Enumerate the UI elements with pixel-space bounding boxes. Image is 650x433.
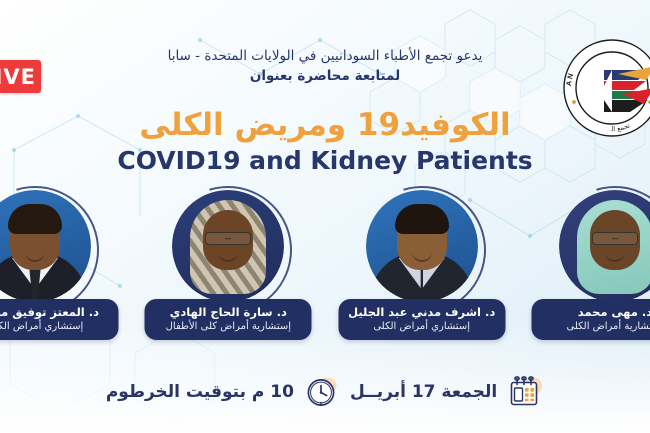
speaker-photo-3	[366, 190, 478, 302]
speaker-nameplate-3: د. اشرف مدني عبد الجليل إستشاري أمراض ال…	[338, 299, 505, 340]
event-poster: LIVE SUDANESE AMERICAN تجمع الأطباء السو…	[0, 0, 650, 433]
title-arabic: الكوفيد19 ومريض الكلى	[0, 108, 650, 144]
clock-icon	[303, 373, 341, 411]
speaker-name: د. مهى محمد	[537, 305, 650, 319]
speaker-name: د. اشرف مدني عبد الجليل	[344, 305, 499, 319]
speakers-row: د. المعتز توفيق موسى إستشاري أمراض الكلى…	[0, 188, 650, 340]
speaker-role: إستشاري أمراض الكلى	[0, 320, 113, 333]
speaker-card-2: د. سارة الحاج الهادي إستشارية أمراض كلى …	[147, 188, 309, 340]
speaker-name: د. المعتز توفيق موسى	[0, 305, 113, 319]
speaker-role: إستشارية أمراض الكلى	[537, 320, 650, 333]
title-english: COVID19 and Kidney Patients	[0, 145, 650, 176]
speaker-role: إستشاري أمراض الكلى	[344, 320, 499, 333]
invitation-header: يدعو تجمع الأطباء السودانيين في الولايات…	[0, 46, 650, 88]
speaker-photo-1	[0, 190, 91, 302]
speaker-nameplate-1: د. المعتز توفيق موسى إستشاري أمراض الكلى	[0, 299, 119, 340]
speaker-photo-4	[559, 190, 650, 302]
speaker-card-4: د. مهى محمد إستشارية أمراض الكلى	[534, 188, 650, 340]
speaker-nameplate-4: د. مهى محمد إستشارية أمراض الكلى	[531, 299, 650, 340]
speaker-photo-2	[172, 190, 284, 302]
speaker-card-1: د. المعتز توفيق موسى إستشاري أمراض الكلى	[0, 188, 116, 340]
calendar-icon	[506, 373, 544, 411]
event-date: الجمعة 17 أبريــل	[350, 382, 497, 402]
speaker-role: إستشارية أمراض كلى الأطفال	[151, 320, 306, 333]
speaker-nameplate-2: د. سارة الحاج الهادي إستشارية أمراض كلى …	[145, 299, 312, 340]
event-datetime-bar: الجمعة 17 أبريــل 10 م بتوقيت الخرطوم	[0, 373, 650, 411]
event-time: 10 م بتوقيت الخرطوم	[106, 382, 294, 402]
lecture-title: الكوفيد19 ومريض الكلى COVID19 and Kidney…	[0, 108, 650, 176]
speaker-card-3: د. اشرف مدني عبد الجليل إستشاري أمراض ال…	[341, 188, 503, 340]
invitation-line-1: يدعو تجمع الأطباء السودانيين في الولايات…	[0, 46, 650, 66]
speaker-name: د. سارة الحاج الهادي	[151, 305, 306, 319]
invitation-line-2: لمتابعة محاضرة بعنوان	[0, 66, 650, 88]
